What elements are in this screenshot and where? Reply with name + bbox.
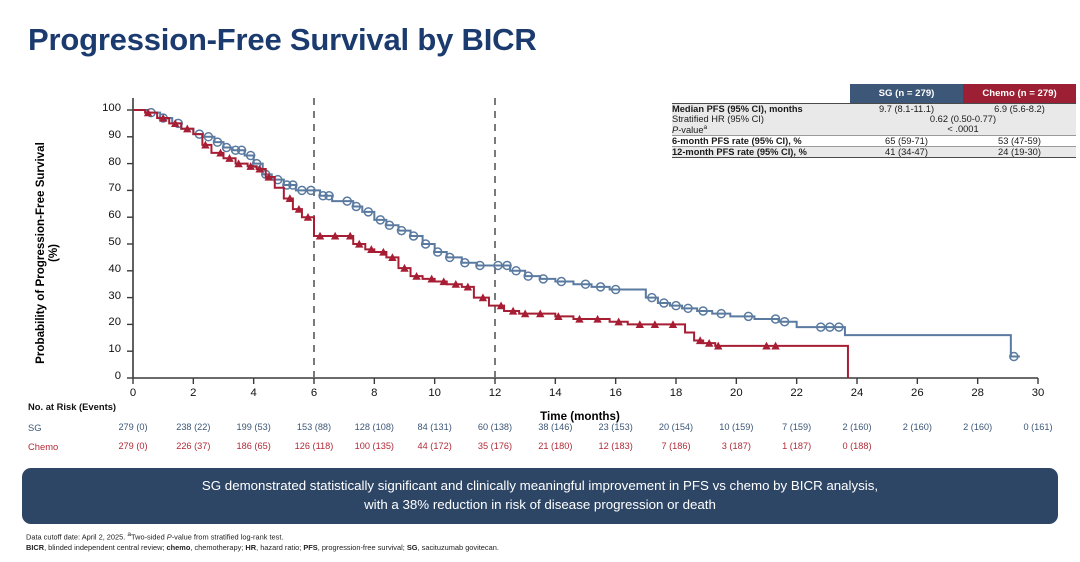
footnote-logrank: -value from stratified log-rank test.: [172, 532, 284, 541]
banner-line-1: SG demonstrated statistically significan…: [202, 477, 878, 496]
y-tick-label: 50: [95, 236, 121, 248]
risk-table: No. at Risk (Events) SG Chemo 279 (0)238…: [0, 400, 1080, 462]
x-tick-label: 26: [904, 387, 930, 399]
y-tick-label: 90: [95, 129, 121, 141]
x-tick-label: 8: [361, 387, 387, 399]
x-tick-label: 20: [723, 387, 749, 399]
risk-cell-chemo: 3 (187): [707, 441, 765, 451]
footnote-line-1: Data cutoff date: April 2, 2025. aTwo-si…: [26, 530, 499, 543]
risk-cell-chemo: 7 (186): [647, 441, 705, 451]
risk-cell-sg: 2 (160): [949, 422, 1007, 432]
risk-cell-chemo: 44 (172): [406, 441, 464, 451]
x-tick-label: 14: [542, 387, 568, 399]
footnotes: Data cutoff date: April 2, 2025. aTwo-si…: [26, 530, 499, 554]
risk-cell-chemo: 100 (135): [345, 441, 403, 451]
footnote-cutoff: Data cutoff date: April 2, 2025.: [26, 532, 127, 541]
risk-cell-sg: 84 (131): [406, 422, 464, 432]
footnote-line-2: BICR, blinded independent central review…: [26, 543, 499, 554]
x-tick-label: 0: [120, 387, 146, 399]
risk-table-heading: No. at Risk (Events): [28, 401, 116, 412]
x-tick-label: 28: [965, 387, 991, 399]
risk-cell-chemo: 1 (187): [768, 441, 826, 451]
risk-cell-sg: 2 (160): [828, 422, 886, 432]
km-plot-svg: [0, 88, 1080, 418]
risk-cell-chemo: 226 (37): [164, 441, 222, 451]
risk-cell-chemo: 279 (0): [104, 441, 162, 451]
risk-cell-sg: 7 (159): [768, 422, 826, 432]
risk-cell-sg: 60 (138): [466, 422, 524, 432]
x-tick-label: 22: [784, 387, 810, 399]
y-tick-label: 30: [95, 290, 121, 302]
y-tick-label: 40: [95, 263, 121, 275]
risk-cell-sg: 153 (88): [285, 422, 343, 432]
risk-cell-sg: 128 (108): [345, 422, 403, 432]
risk-cell-sg: 199 (53): [225, 422, 283, 432]
risk-cell-chemo: 21 (180): [526, 441, 584, 451]
risk-row-label-sg: SG: [28, 422, 42, 433]
x-tick-label: 12: [482, 387, 508, 399]
risk-cell-sg: 238 (22): [164, 422, 222, 432]
x-tick-label: 24: [844, 387, 870, 399]
risk-cell-sg: 279 (0): [104, 422, 162, 432]
risk-cell-sg: 23 (153): [587, 422, 645, 432]
risk-cell-sg: 2 (160): [888, 422, 946, 432]
y-tick-label: 10: [95, 343, 121, 355]
x-tick-label: 30: [1025, 387, 1051, 399]
y-tick-label: 100: [95, 102, 121, 114]
x-tick-label: 2: [180, 387, 206, 399]
x-tick-label: 18: [663, 387, 689, 399]
risk-cell-chemo: 126 (118): [285, 441, 343, 451]
risk-cell-sg: 20 (154): [647, 422, 705, 432]
risk-cell-chemo: 0 (188): [828, 441, 886, 451]
x-tick-label: 6: [301, 387, 327, 399]
y-tick-label: 0: [95, 370, 121, 382]
risk-cell-chemo: 35 (176): [466, 441, 524, 451]
x-tick-label: 10: [422, 387, 448, 399]
x-tick-label: 16: [603, 387, 629, 399]
km-chart: Probability of Progression-Free Survival…: [0, 88, 1080, 418]
page-title: Progression-Free Survival by BICR: [28, 22, 537, 58]
risk-cell-chemo: 12 (183): [587, 441, 645, 451]
risk-cell-chemo: 186 (65): [225, 441, 283, 451]
risk-cell-sg: 10 (159): [707, 422, 765, 432]
y-tick-label: 80: [95, 156, 121, 168]
banner-line-2: with a 38% reduction in risk of disease …: [364, 496, 716, 515]
risk-cell-sg: 0 (161): [1009, 422, 1067, 432]
risk-cell-sg: 38 (146): [526, 422, 584, 432]
slide-root: Progression-Free Survival by BICR SG (n …: [0, 0, 1080, 562]
y-axis-label: Probability of Progression-Free Survival…: [34, 138, 60, 368]
risk-row-label-chemo: Chemo: [28, 441, 58, 452]
x-tick-label: 4: [241, 387, 267, 399]
y-tick-label: 20: [95, 316, 121, 328]
y-tick-label: 70: [95, 182, 121, 194]
conclusion-banner: SG demonstrated statistically significan…: [22, 468, 1058, 524]
y-tick-label: 60: [95, 209, 121, 221]
footnote-twosided: Two-sided: [131, 532, 167, 541]
